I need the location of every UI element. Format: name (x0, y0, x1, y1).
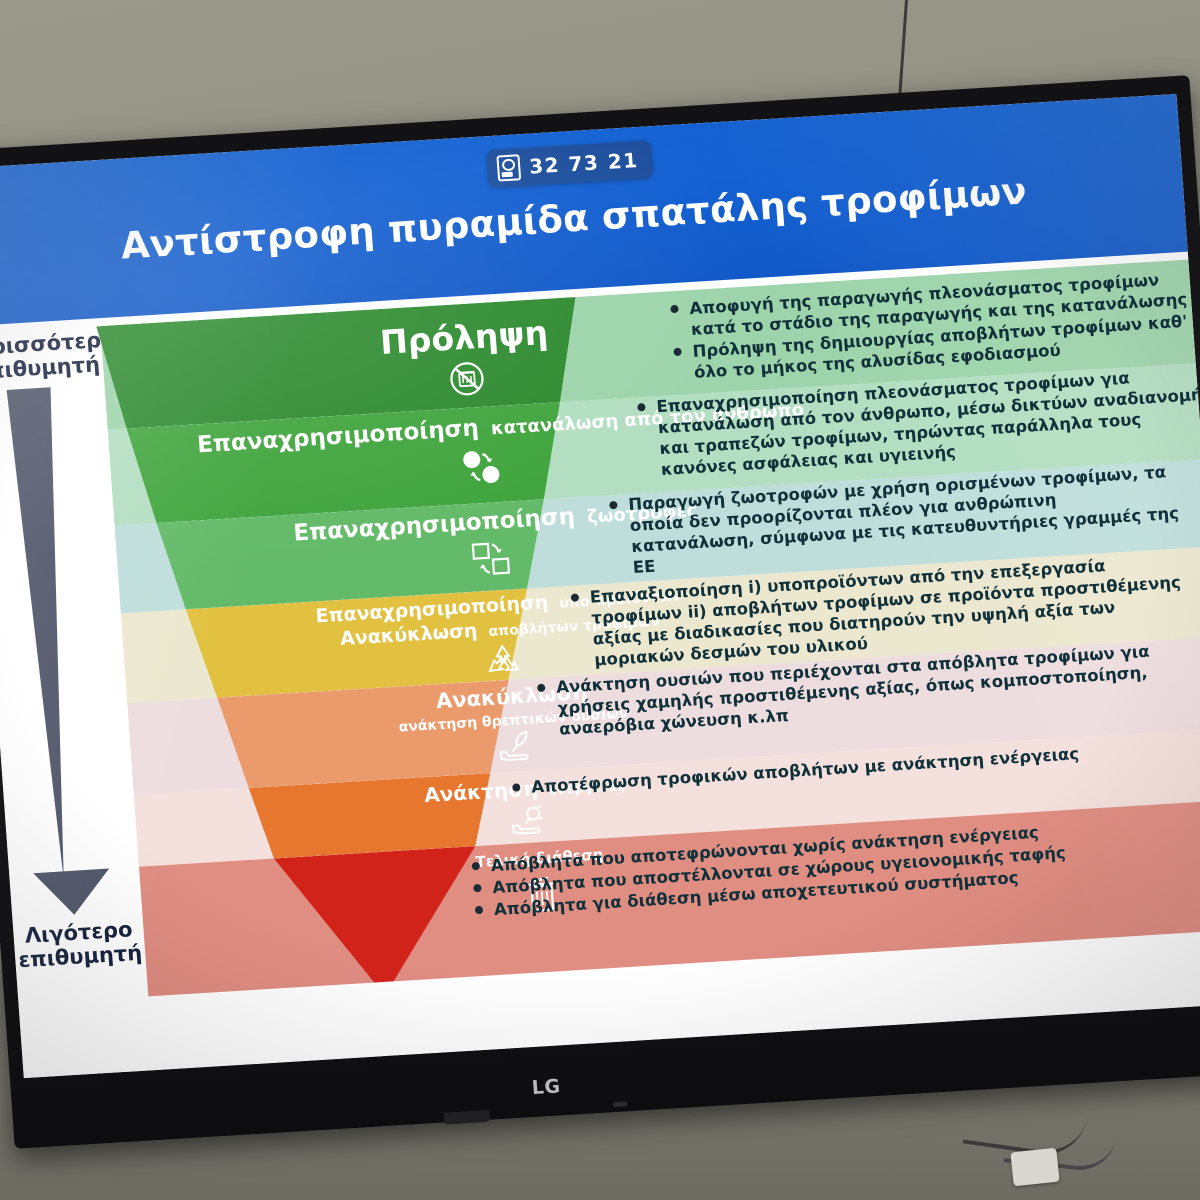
presentation-slide: 32 73 21 Αντίστροφη πυραμίδα σπατάλης τρ… (0, 94, 1200, 1078)
recycle-icon (481, 641, 524, 679)
no-food-waste-icon (447, 359, 488, 399)
book-icon (496, 154, 521, 181)
tv-ir-receiver (613, 1101, 627, 1107)
inverted-pyramid-diagram: Πρόληψη Αποφυγή της παραγωγή (0, 260, 1200, 1013)
hand-plug-icon (506, 804, 550, 840)
tv-brand-logo: LG (531, 1075, 561, 1099)
reuse-circles-icon (458, 445, 505, 490)
tv-bezel: 32 73 21 Αντίστροφη πυραμίδα σπατάλης τρ… (0, 75, 1200, 1149)
wall-plug (1010, 1148, 1059, 1187)
television: 32 73 21 Αντίστροφη πυραμίδα σπατάλης τρ… (0, 75, 1200, 1149)
tv-screen: 32 73 21 Αντίστροφη πυραμίδα σπατάλης τρ… (0, 94, 1200, 1078)
reuse-squares-icon (467, 537, 514, 580)
page-number-text: 32 73 21 (528, 148, 639, 179)
hand-plant-icon (493, 726, 538, 766)
